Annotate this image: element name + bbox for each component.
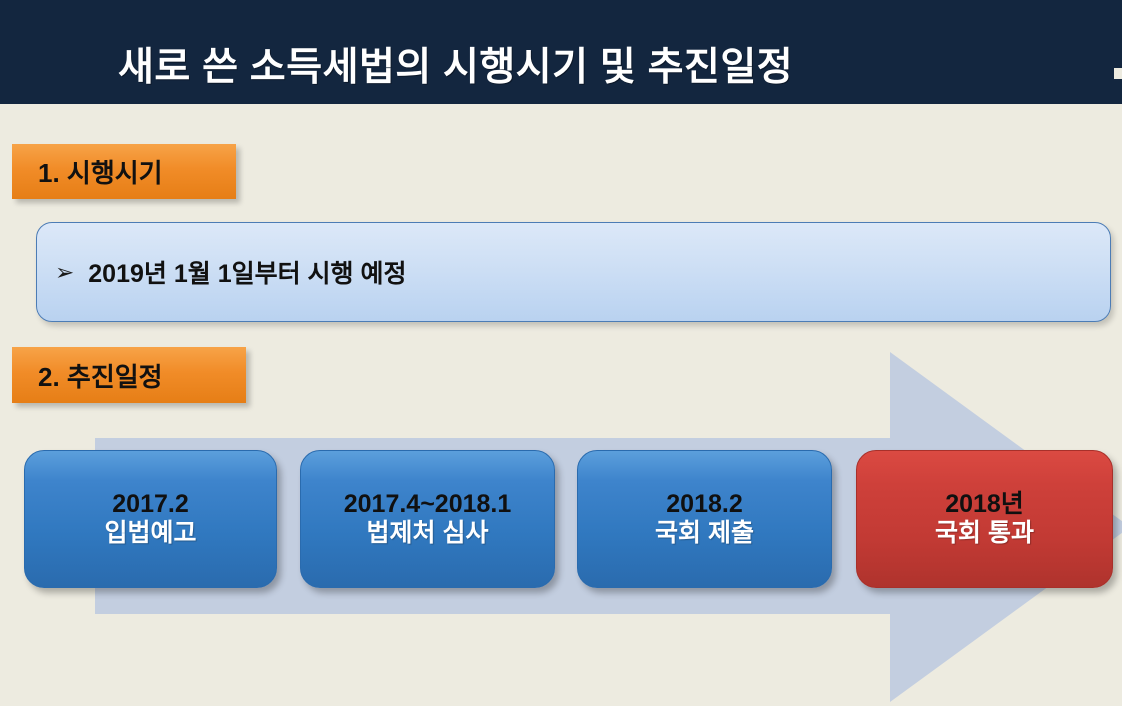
slide-title: 새로 쓴 소득세법의 시행시기 및 추진일정 xyxy=(118,36,793,92)
timeline-step-4-label: 국회 통과 xyxy=(935,519,1034,549)
timeline-step-3[interactable]: 2018.2 국회 제출 xyxy=(577,450,832,588)
slide-canvas: 새로 쓴 소득세법의 시행시기 및 추진일정 1. 시행시기 ➢ 2019년 1… xyxy=(0,0,1122,706)
timeline-step-1-date: 2017.2 xyxy=(112,490,188,520)
implementation-panel: ➢ 2019년 1월 1일부터 시행 예정 xyxy=(36,222,1111,322)
timeline-step-4[interactable]: 2018년 국회 통과 xyxy=(856,450,1113,588)
arrow-bullet-icon: ➢ xyxy=(55,261,74,284)
timeline-step-4-date: 2018년 xyxy=(945,490,1024,520)
timeline-step-2-date: 2017.4~2018.1 xyxy=(344,490,512,520)
timeline-step-1[interactable]: 2017.2 입법예고 xyxy=(24,450,277,588)
section-header-1: 1. 시행시기 xyxy=(12,144,236,199)
timeline-step-2[interactable]: 2017.4~2018.1 법제처 심사 xyxy=(300,450,555,588)
timeline-step-2-label: 법제처 심사 xyxy=(367,519,489,549)
timeline-step-3-label: 국회 제출 xyxy=(655,519,754,549)
bullet-row: ➢ 2019년 1월 1일부터 시행 예정 xyxy=(37,254,407,290)
title-bar: 새로 쓴 소득세법의 시행시기 및 추진일정 xyxy=(0,0,1122,104)
title-edge-marker xyxy=(1114,68,1122,79)
timeline-step-1-label: 입법예고 xyxy=(104,519,196,549)
timeline-step-3-date: 2018.2 xyxy=(666,490,742,520)
implementation-text: 2019년 1월 1일부터 시행 예정 xyxy=(88,254,406,290)
